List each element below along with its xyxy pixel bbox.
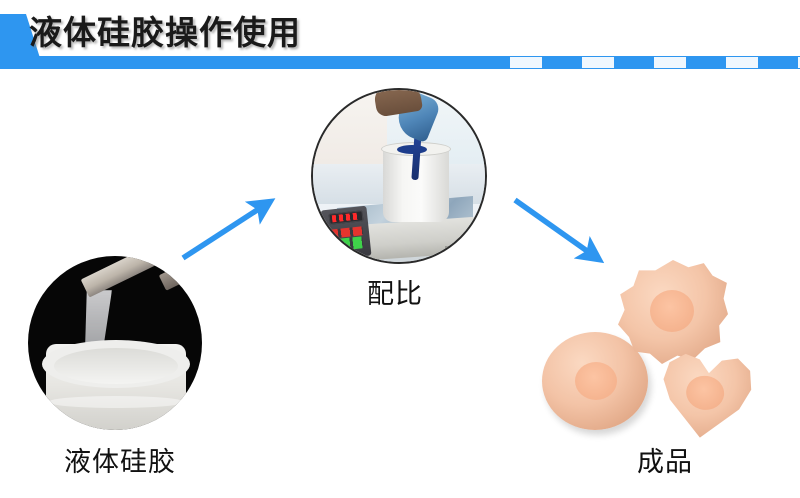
arrow-liquid-to-ratio-icon: [175, 188, 285, 268]
header-dash-pattern: [470, 57, 800, 68]
caption-ratio: 配比: [367, 272, 423, 311]
scale-foot-right: [445, 246, 455, 253]
round-pad: [542, 332, 648, 430]
finished-product-photo: [530, 250, 780, 440]
caption-liquid-silicone: 液体硅胶: [64, 440, 176, 479]
flower-pad-core: [650, 290, 694, 332]
blue-pigment-pool: [397, 145, 427, 154]
flower-pad: [618, 260, 728, 364]
page-header: 液体硅胶操作使用: [0, 0, 800, 72]
round-pad-core: [575, 362, 617, 400]
caption-finished-product: 成品: [637, 440, 693, 479]
silicone-container-band: [48, 396, 184, 408]
page-title: 液体硅胶操作使用: [29, 6, 301, 54]
liquid-silicone-photo: [28, 256, 202, 430]
heart-pad-core: [684, 373, 726, 412]
silicone-container-inner: [54, 348, 178, 384]
ratio-weighing-photo: [311, 88, 487, 264]
